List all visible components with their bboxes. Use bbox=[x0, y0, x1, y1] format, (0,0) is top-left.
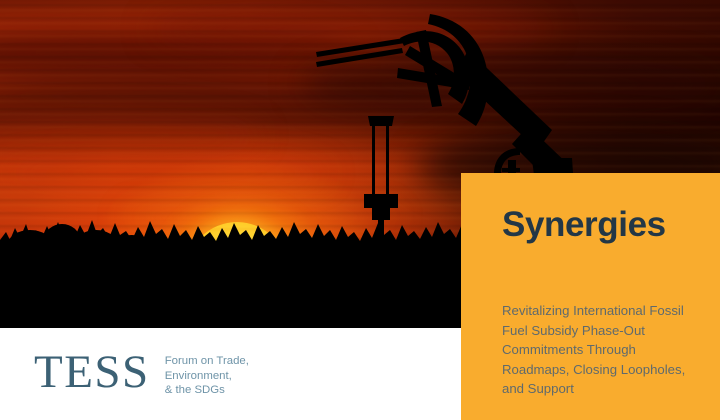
logo-wordmark: TESS bbox=[34, 350, 150, 394]
title-panel: Synergies Revitalizing International Fos… bbox=[461, 173, 720, 420]
report-cover: Synergies Revitalizing International Fos… bbox=[0, 0, 720, 420]
footer-bar: TESS Forum on Trade, Environment, & the … bbox=[0, 328, 461, 420]
tess-logo[interactable]: TESS Forum on Trade, Environment, & the … bbox=[34, 350, 249, 398]
page-subtitle: Revitalizing International Fossil Fuel S… bbox=[502, 301, 702, 399]
logo-tagline: Forum on Trade, Environment, & the SDGs bbox=[165, 350, 249, 398]
page-title: Synergies bbox=[502, 207, 666, 244]
